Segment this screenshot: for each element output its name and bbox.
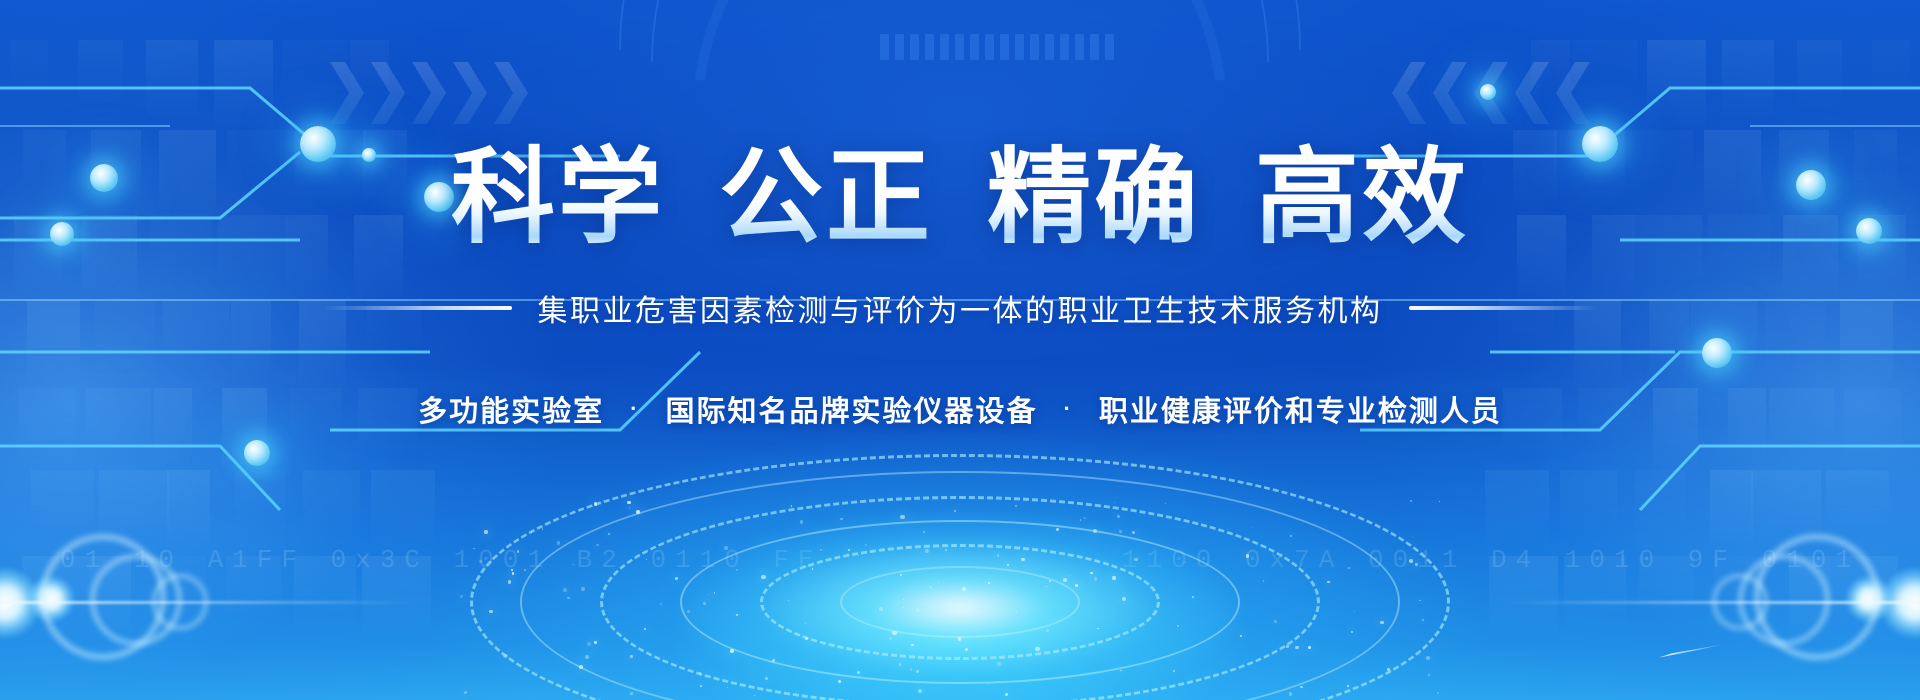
tagline-item-2: 国际知名品牌实验仪器设备 bbox=[665, 388, 1037, 430]
banner-content: 科学 公正 精确 高效 集职业危害因素检测与评价为一体的职业卫生技术服务机构 多… bbox=[0, 0, 1920, 700]
headline-word-3: 精确 bbox=[987, 142, 1201, 252]
tagline-item-1: 多功能实验室 bbox=[418, 388, 604, 430]
headline: 科学 公正 精确 高效 bbox=[451, 142, 1469, 252]
headline-word-4: 高效 bbox=[1255, 142, 1469, 252]
subtitle-text: 集职业危害因素检测与评价为一体的职业卫生技术服务机构 bbox=[538, 286, 1383, 330]
tagline-item-3: 职业健康评价和专业检测人员 bbox=[1099, 388, 1502, 430]
tagline-separator-2: · bbox=[1064, 396, 1073, 422]
tech-banner: 01 10 A1FF 0x3C 1001 B2 0110 FE 1100 0x7… bbox=[0, 0, 1920, 700]
subtitle-rule-right bbox=[1409, 306, 1597, 310]
subtitle-row: 集职业危害因素检测与评价为一体的职业卫生技术服务机构 bbox=[324, 286, 1597, 330]
tagline-separator-1: · bbox=[630, 396, 639, 422]
tagline-row: 多功能实验室 · 国际知名品牌实验仪器设备 · 职业健康评价和专业检测人员 bbox=[418, 388, 1502, 430]
headline-word-1: 科学 bbox=[451, 142, 665, 252]
headline-word-2: 公正 bbox=[719, 142, 933, 252]
subtitle-rule-left bbox=[324, 306, 512, 310]
